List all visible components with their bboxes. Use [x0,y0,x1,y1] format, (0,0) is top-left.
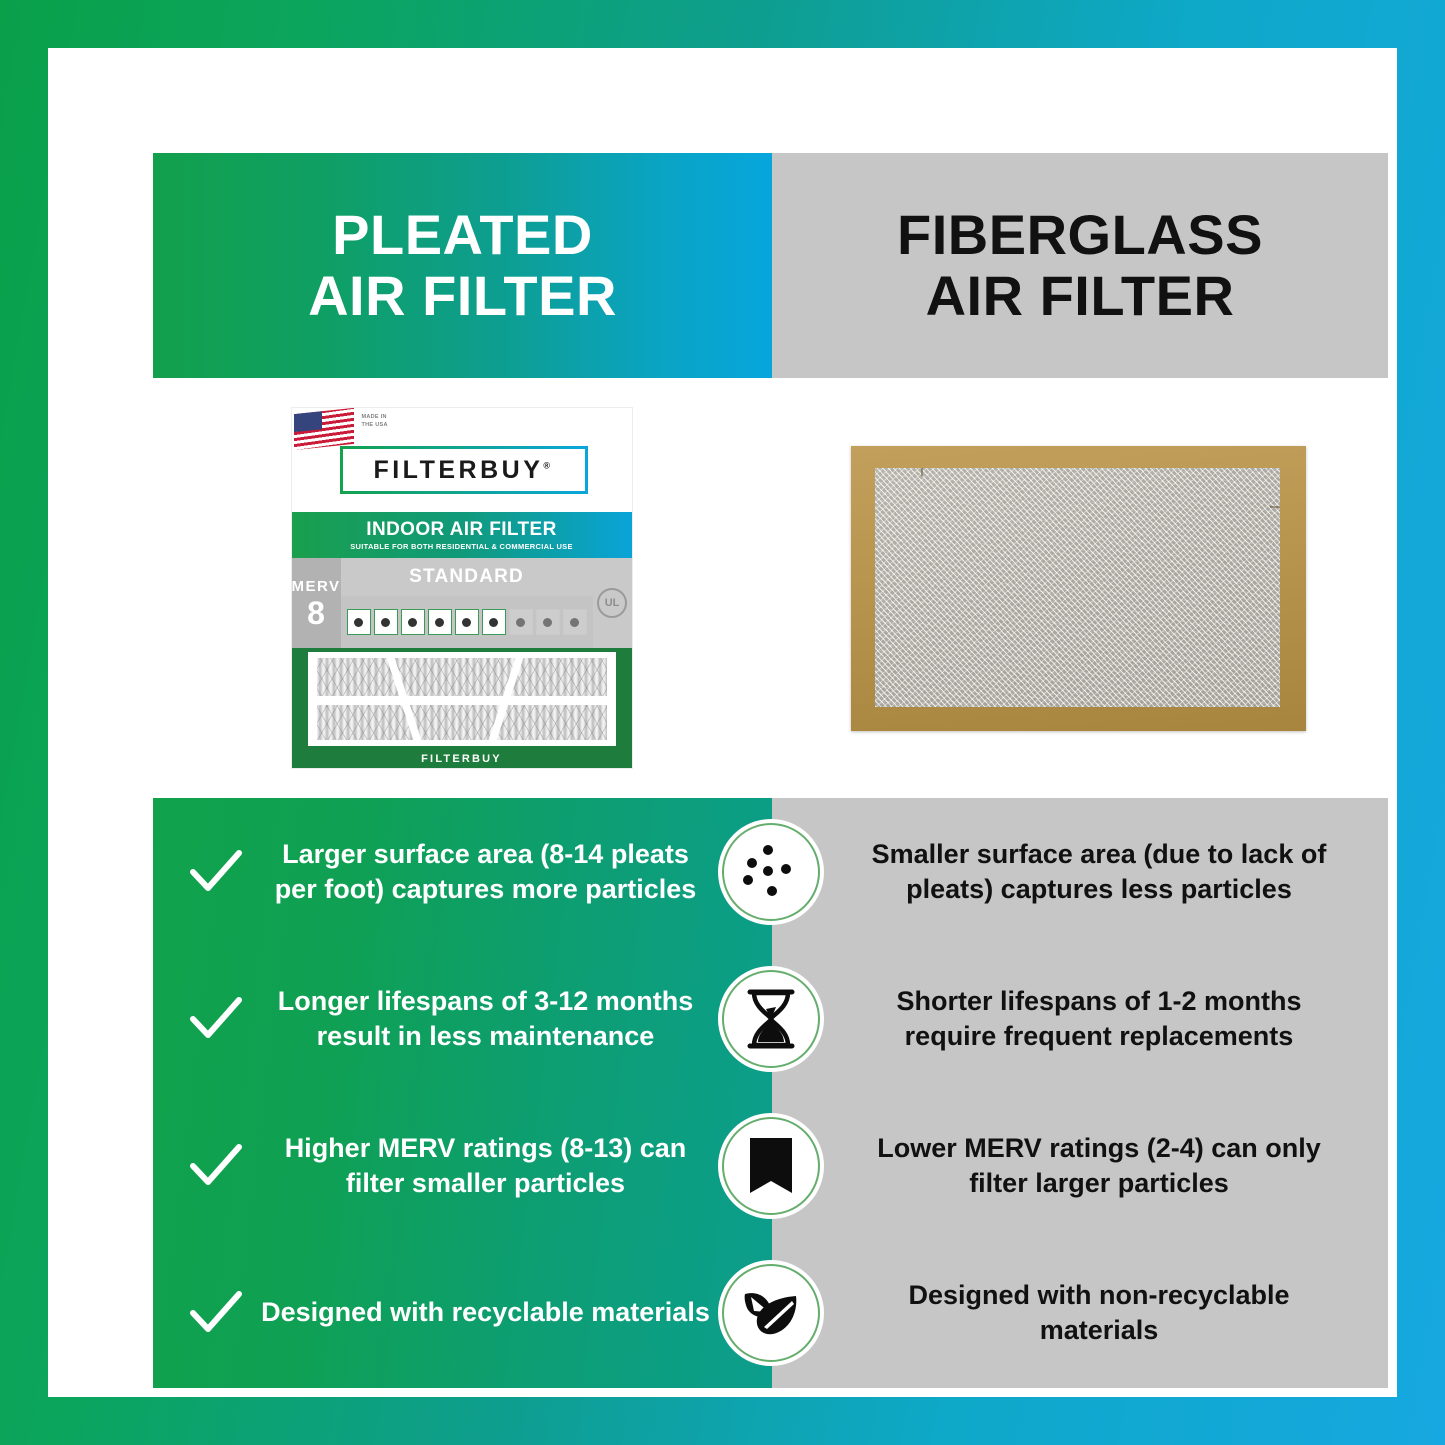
comparison-row: Longer lifespans of 3-12 months result i… [153,945,1388,1092]
capability-icon-strip [341,596,593,648]
merv-value: 8 [307,597,325,629]
capability-icon-pollen [428,609,452,635]
white-matte: PLEATED AIR FILTER FIBERGLASS AIR FILTER [48,48,1397,1397]
pleated-title: PLEATED AIR FILTER [308,205,617,326]
grade-label: STANDARD [341,558,593,596]
row-1-left-text: Larger surface area (8-14 pleats per foo… [259,837,754,906]
merv-label: MERV [292,578,341,595]
fiberglass-title: FIBERGLASS AIR FILTER [897,205,1263,326]
check-icon [187,1137,245,1195]
merv-block: MERV 8 [292,558,341,648]
row-2-left-cell: Longer lifespans of 3-12 months result i… [153,945,772,1092]
made-in-usa-label: MADE IN THE USA [362,414,388,430]
brand-word: FILTERBUY [373,456,543,484]
capability-icon-dustmite [455,609,479,635]
row-2-right-cell: Shorter lifespans of 1-2 months require … [772,945,1388,1092]
particles-icon [722,823,820,921]
outer-gradient-frame: PLEATED AIR FILTER FIBERGLASS AIR FILTER [0,0,1445,1445]
row-2-left-text: Longer lifespans of 3-12 months result i… [259,984,754,1053]
frame-seam-top [921,468,923,476]
spec-middle: STANDARD [341,558,593,648]
row-4-left-text: Designed with recyclable materials [259,1295,754,1329]
hourglass-icon [722,970,820,1068]
header-fiberglass: FIBERGLASS AIR FILTER [772,153,1388,378]
comparison-row: Designed with recyclable materials Desig… [153,1239,1388,1386]
capability-icon-lint [374,609,398,635]
row-1-right-text: Smaller surface area (due to lack of ple… [850,837,1348,906]
row-1-right-cell: Smaller surface area (due to lack of ple… [772,798,1388,945]
frame-seam-right [1270,506,1280,508]
filterbuy-logo-box: FILTERBUY® [340,446,588,494]
pleat-support-grid [308,652,616,746]
row-3-right-text: Lower MERV ratings (2-4) can only filter… [850,1131,1348,1200]
comparison-row: Larger surface area (8-14 pleats per foo… [153,798,1388,945]
band-main-text: INDOOR AIR FILTER [366,519,556,541]
capability-icon-smoke [509,609,533,635]
pleated-title-line1: PLEATED [332,203,593,266]
certification-block: UL [593,558,632,648]
capability-icon-bacteria [536,609,560,635]
made-in-line2: THE USA [362,422,388,430]
filterbuy-logo-text: FILTERBUY® [373,456,553,485]
row-4-right-cell: Designed with non-recyclable materials [772,1239,1388,1386]
filterbox-bottom-brand: FILTERBUY [292,753,632,765]
row-4-left-cell: Designed with recyclable materials [153,1239,772,1386]
pleated-filter-image: MADE IN THE USA FILTERBUY® INDOOR AIR FI… [292,408,632,768]
comparison-rows: Larger surface area (8-14 pleats per foo… [153,798,1388,1388]
band-sub-text: SUITABLE FOR BOTH RESIDENTIAL & COMMERCI… [350,542,573,551]
filterbox-top: MADE IN THE USA FILTERBUY® [292,408,632,512]
registered-mark: ® [543,460,553,470]
pleated-media-area: FILTERBUY [292,648,632,768]
capability-icon-mold [401,609,425,635]
row-4-right-text: Designed with non-recyclable materials [850,1278,1348,1347]
leaf-icon [722,1264,820,1362]
product-image-row: MADE IN THE USA FILTERBUY® INDOOR AIR FI… [153,378,1388,798]
comparison-row: Higher MERV ratings (8-13) can filter sm… [153,1092,1388,1239]
header-row: PLEATED AIR FILTER FIBERGLASS AIR FILTER [153,153,1388,378]
row-3-left-text: Higher MERV ratings (8-13) can filter sm… [259,1131,754,1200]
check-icon [187,990,245,1048]
particles-dots [741,842,801,902]
filterbox-spec-strip: MERV 8 STANDARD [292,558,632,648]
comparison-section: Larger surface area (8-14 pleats per foo… [153,798,1388,1388]
capability-icon-pet-dander [482,609,506,635]
header-pleated: PLEATED AIR FILTER [153,153,772,378]
indoor-air-filter-band: INDOOR AIR FILTER SUITABLE FOR BOTH RESI… [292,512,632,558]
usa-flag-icon [294,408,354,450]
fiberglass-title-line2: AIR FILTER [897,266,1263,326]
capability-icon-dust [347,609,371,635]
fiberglass-mesh-texture [875,468,1280,707]
bookmark-icon [722,1117,820,1215]
fiberglass-product-cell [770,378,1387,798]
capability-icon-virus [563,609,587,635]
row-2-right-text: Shorter lifespans of 1-2 months require … [850,984,1348,1053]
comparison-card: PLEATED AIR FILTER FIBERGLASS AIR FILTER [153,153,1388,1388]
row-1-left-cell: Larger surface area (8-14 pleats per foo… [153,798,772,945]
ul-certification-icon: UL [597,588,627,618]
check-icon [187,1284,245,1342]
pleated-product-cell: MADE IN THE USA FILTERBUY® INDOOR AIR FI… [153,378,770,798]
row-3-left-cell: Higher MERV ratings (8-13) can filter sm… [153,1092,772,1239]
fiberglass-title-line1: FIBERGLASS [897,203,1263,266]
row-3-right-cell: Lower MERV ratings (2-4) can only filter… [772,1092,1388,1239]
pleated-title-line2: AIR FILTER [308,266,617,326]
check-icon [187,843,245,901]
fiberglass-filter-image [851,446,1306,731]
made-in-line1: MADE IN [362,414,388,422]
